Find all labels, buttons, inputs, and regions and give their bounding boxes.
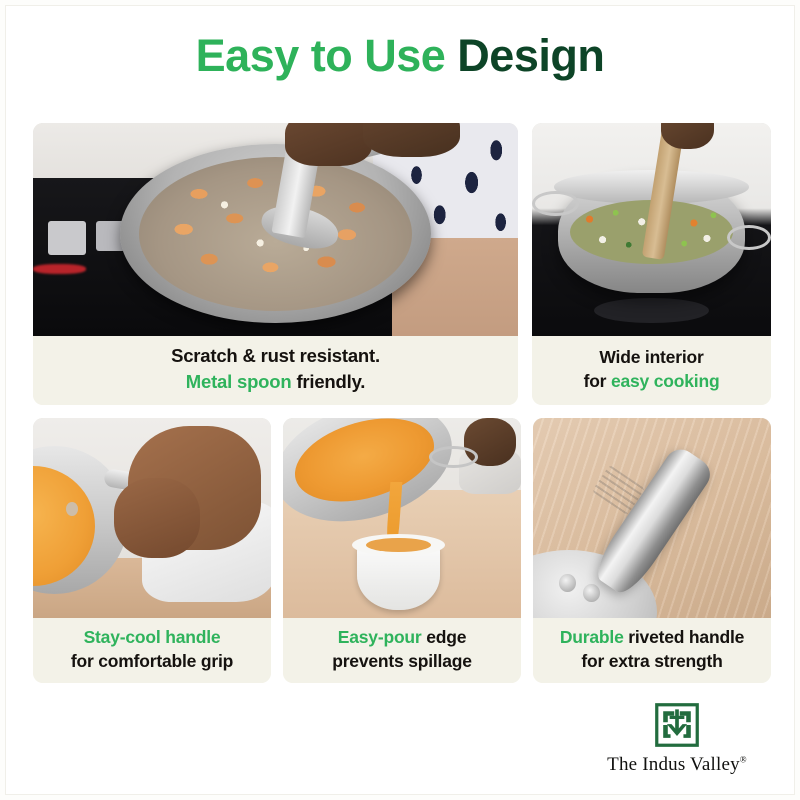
indus-valley-logo-mark: [654, 702, 700, 748]
caption-easy-pour-edge: Easy-pour edge prevents spillage: [283, 618, 521, 683]
photo-stay-cool-handle: [33, 418, 271, 618]
caption-text-green: Easy-pour: [338, 627, 422, 647]
kadai-side-handle-left: [532, 191, 579, 216]
cooktop-knob: [48, 221, 87, 255]
photo-pasta-pan: [33, 123, 518, 336]
caption-line-1: Easy-pour edge: [338, 625, 467, 649]
caption-line-2: for extra strength: [581, 649, 722, 673]
caption-durable-riveted-handle: Durable riveted handle for extra strengt…: [533, 618, 771, 683]
caption-line-1: Scratch & rust resistant.: [171, 343, 380, 369]
caption-line-2: for comfortable grip: [71, 649, 233, 673]
caption-line-2: prevents spillage: [332, 649, 472, 673]
page-title-green: Easy to Use: [196, 30, 458, 81]
photo-pouring-curry: [283, 418, 521, 618]
caption-text-green: Durable: [560, 627, 624, 647]
caption-stay-cool-handle: Stay-cool handle for comfortable grip: [33, 618, 271, 683]
caption-text-plain: for extra strength: [581, 651, 722, 671]
handle-rivet: [559, 574, 576, 592]
caption-text-plain: for: [584, 371, 611, 391]
feature-row-bottom: Stay-cool handle for comfortable grip: [33, 418, 771, 683]
caption-text-plain: for comfortable grip: [71, 651, 233, 671]
second-hand: [114, 478, 200, 558]
brand-name-text: The Indus Valley: [607, 754, 740, 775]
caption-text-green: easy cooking: [611, 371, 719, 391]
hand-holding-lid: [363, 123, 460, 157]
hand-holding-spoon: [285, 123, 372, 166]
caption-text-plain: prevents spillage: [332, 651, 472, 671]
page-title: Easy to Use Design: [0, 28, 800, 84]
brand-logo: The Indus Valley®: [592, 702, 762, 776]
brand-name: The Indus Valley®: [592, 754, 762, 776]
caption-text-plain: friendly.: [292, 371, 366, 392]
feature-row-top: Scratch & rust resistant. Metal spoon fr…: [33, 123, 771, 405]
handle-rivet: [583, 584, 600, 602]
feature-card-stay-cool-handle[interactable]: Stay-cool handle for comfortable grip: [33, 418, 271, 683]
photo-vegetable-kadai: [532, 123, 771, 336]
kadai-side-handle: [429, 446, 478, 468]
caption-wide-interior: Wide interior for easy cooking: [532, 336, 771, 405]
caption-line-2: for easy cooking: [584, 369, 720, 393]
cooktop-indicator-light: [33, 264, 86, 275]
caption-line-1: Durable riveted handle: [560, 625, 744, 649]
feature-card-easy-pour-edge[interactable]: Easy-pour edge prevents spillage: [283, 418, 521, 683]
infographic-page: Easy to Use Design: [0, 0, 800, 800]
caption-line-1: Wide interior: [599, 345, 703, 369]
feature-card-wide-interior[interactable]: Wide interior for easy cooking: [532, 123, 771, 405]
feature-grid: Scratch & rust resistant. Metal spoon fr…: [33, 123, 771, 683]
caption-text-plain: edge: [422, 627, 467, 647]
feature-card-durable-riveted-handle[interactable]: Durable riveted handle for extra strengt…: [533, 418, 771, 683]
photo-riveted-handle: [533, 418, 771, 618]
cooktop-burner-ring: [594, 298, 709, 324]
caption-text-plain: riveted handle: [624, 627, 745, 647]
caption-scratch-rust-resistant: Scratch & rust resistant. Metal spoon fr…: [33, 336, 518, 405]
feature-card-scratch-rust-resistant[interactable]: Scratch & rust resistant. Metal spoon fr…: [33, 123, 518, 405]
trademark-symbol: ®: [740, 755, 747, 765]
caption-text-green: Metal spoon: [186, 371, 292, 392]
page-title-dark: Design: [457, 30, 604, 81]
curry-in-bowl: [366, 538, 430, 552]
caption-line-1: Stay-cool handle: [84, 625, 221, 649]
caption-line-2: Metal spoon friendly.: [186, 369, 365, 395]
caption-text-green: Stay-cool handle: [84, 627, 221, 647]
caption-text-plain: Wide interior: [599, 347, 703, 367]
caption-text-plain: Scratch & rust resistant.: [171, 345, 380, 366]
